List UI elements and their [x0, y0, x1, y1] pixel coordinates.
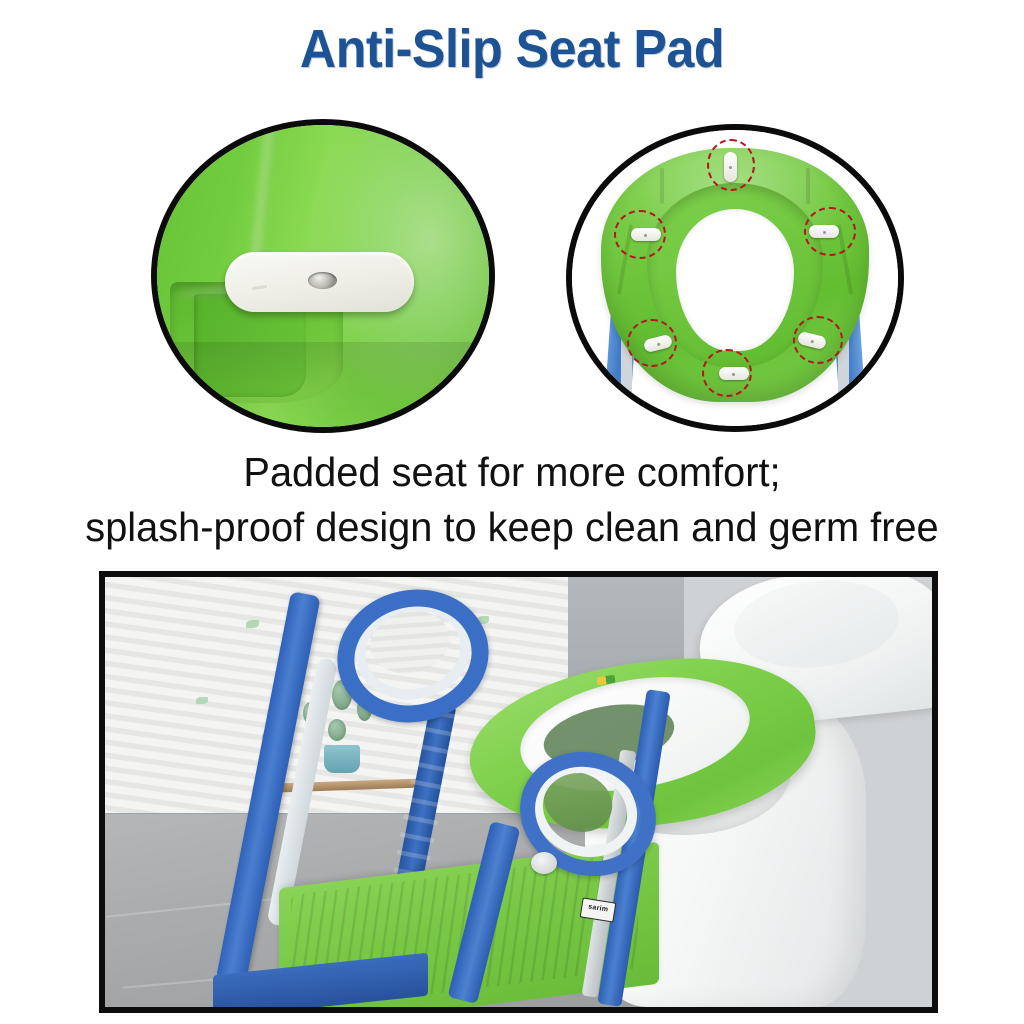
caption-line-1: Padded seat for more comfort;	[15, 445, 1008, 500]
inset-right-image	[572, 130, 898, 426]
anti-slip-pad	[225, 252, 414, 312]
adjustment-knob[interactable]	[531, 852, 557, 874]
seat-opening	[676, 209, 794, 352]
product-photo: sarim	[99, 571, 938, 1013]
seat-rib	[806, 168, 810, 204]
highlight-ring-top	[707, 139, 755, 191]
caption-line-2: splash-proof design to keep clean and ge…	[15, 500, 1008, 555]
inset-closeup-anti-slip-pad	[151, 119, 495, 433]
highlight-ring-right	[804, 207, 856, 256]
cactus-pot-icon	[324, 745, 360, 773]
caption: Padded seat for more comfort; splash-pro…	[15, 445, 1008, 554]
pad-tab	[252, 285, 267, 290]
highlight-ring-left	[614, 210, 666, 259]
page-title: Anti-Slip Seat Pad	[36, 18, 988, 80]
pad-screw-icon	[308, 272, 336, 289]
inset-left-image	[157, 125, 489, 427]
seat-rib	[660, 168, 664, 204]
highlight-ring-bottom-right	[793, 316, 843, 364]
seat-shadow	[157, 342, 489, 427]
leaf-decal-icon	[246, 620, 259, 628]
inset-seat-underside-six-pads	[566, 124, 904, 432]
